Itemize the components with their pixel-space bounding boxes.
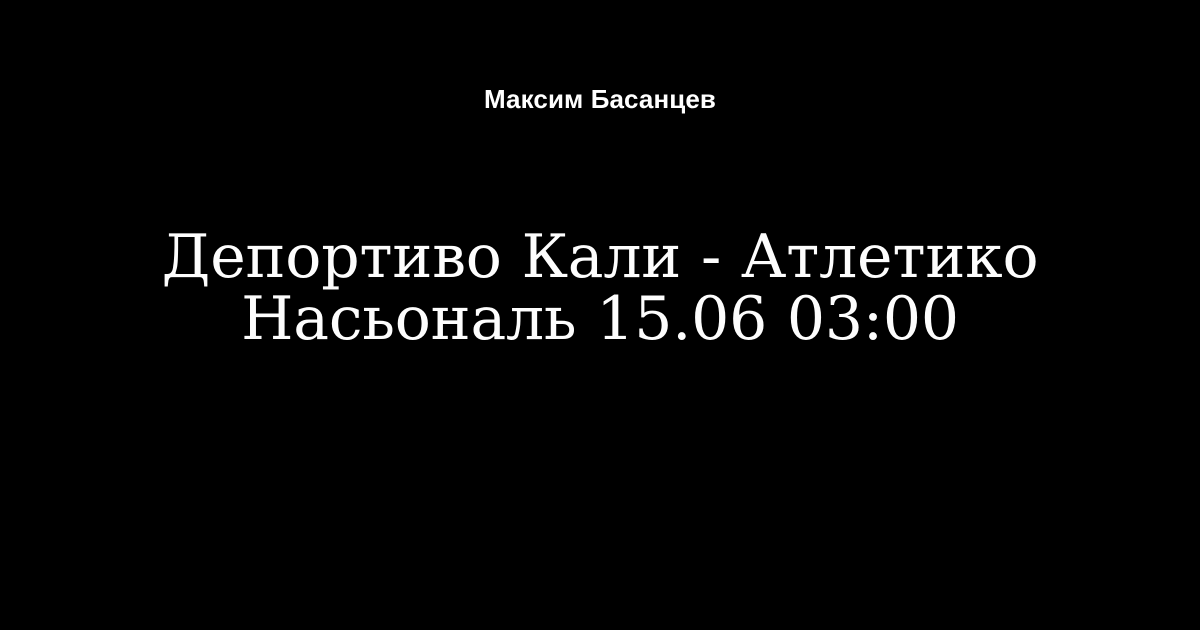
social-preview-card: Максим Басанцев Депортиво Кали - Атлетик…: [0, 0, 1200, 630]
author-name: Максим Басанцев: [484, 85, 716, 114]
headline-container: Депортиво Кали - Атлетико Насьональ 15.0…: [0, 150, 1200, 480]
page-title: Депортиво Кали - Атлетико Насьональ 15.0…: [160, 226, 1040, 350]
empty-region: [0, 480, 1200, 630]
byline-container: Максим Басанцев: [0, 0, 1200, 150]
